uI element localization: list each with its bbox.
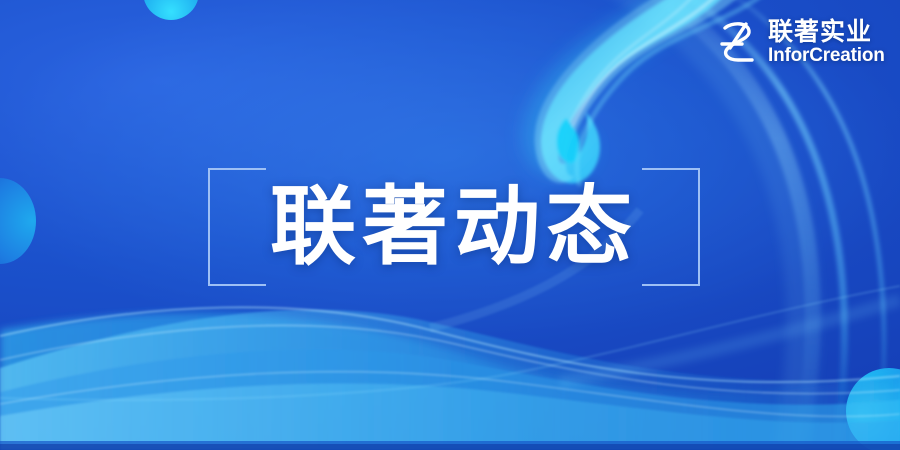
logo-company-cn: 联著实业 <box>768 19 885 45</box>
banner-root: 联著实业 InforCreation 联著动态 <box>0 0 900 450</box>
company-logo[interactable]: 联著实业 InforCreation <box>716 18 885 68</box>
logo-text-block: 联著实业 InforCreation <box>768 19 885 66</box>
page-title: 联著动态 <box>208 168 700 286</box>
title-block: 联著动态 <box>208 168 700 286</box>
inforcreation-logo-mark-icon <box>716 18 760 68</box>
logo-company-en: InforCreation <box>768 46 885 67</box>
